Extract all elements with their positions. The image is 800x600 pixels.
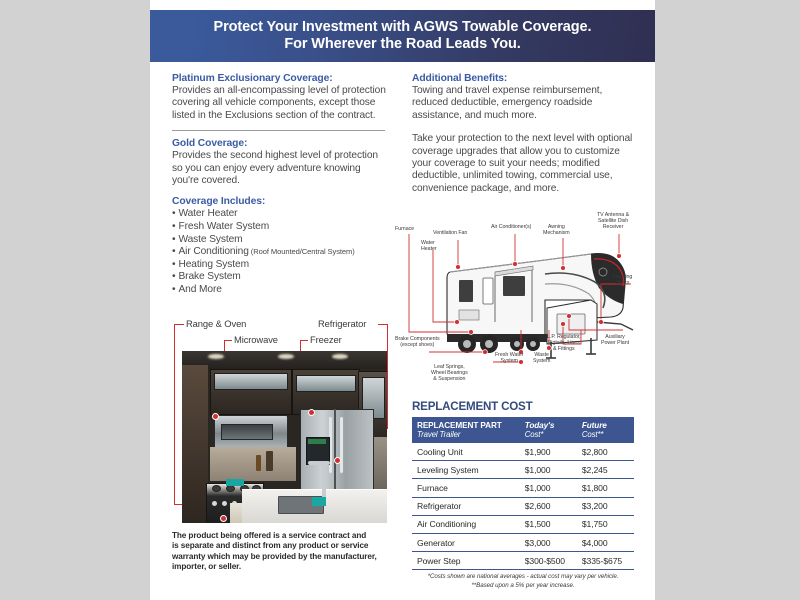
header-title-line2: For Wherever the Road Leads You. — [284, 36, 520, 53]
table-header: REPLACEMENT PART Travel Trailer Today's … — [412, 417, 634, 443]
rv-kitchen-photo — [182, 351, 387, 523]
table-row: Generator$3,000$4,000 — [412, 533, 634, 551]
coverage-item: Waste System — [172, 234, 390, 247]
table-header-row: REPLACEMENT PART Travel Trailer Today's … — [412, 417, 634, 443]
table-cell-part: Cooling Unit — [412, 443, 520, 461]
service-contract-disclaimer: The product being offered is a service c… — [172, 531, 397, 573]
table-row: Furnace$1,000$1,800 — [412, 479, 634, 497]
gold-section: Gold Coverage: Provides the second highe… — [172, 138, 390, 187]
additional-benefits-body-2: Take your protection to the next level w… — [412, 133, 634, 195]
gold-heading: Gold Coverage: — [172, 138, 390, 149]
callout-leaf-springs: Leaf Springs,Wheel Bearings& Suspension — [431, 364, 468, 383]
table-cell-today: $1,500 — [520, 515, 577, 533]
table-cell-future: $335-$675 — [577, 552, 634, 570]
gold-body: Provides the second highest level of pro… — [172, 150, 390, 187]
column-header-today-label: Today's — [525, 421, 555, 430]
brochure-page: Protect Your Investment with AGWS Towabl… — [150, 0, 655, 600]
coverage-list: Water HeaterFresh Water SystemWaste Syst… — [172, 208, 390, 296]
callout-air-conditioners: Air Conditioner(s) — [491, 224, 531, 230]
coverage-item: Heating System — [172, 259, 390, 272]
table-footnote: *Costs shown are national averages - act… — [412, 573, 634, 580]
coverage-item: And More — [172, 284, 390, 297]
replacement-cost-section: REPLACEMENT COST REPLACEMENT PART Travel… — [412, 400, 634, 590]
table-cell-part: Power Step — [412, 552, 520, 570]
table-cell-today: $2,600 — [520, 497, 577, 515]
column-header-today: Today's Cost* — [520, 417, 577, 443]
coverage-item-label: Waste System — [178, 234, 242, 245]
table-cell-part: Leveling System — [412, 461, 520, 479]
callout-furnace: Furnace — [395, 226, 414, 232]
photo-label-microwave: Microwave — [234, 334, 278, 345]
coverage-item-note: (Roof Mounted/Central System) — [249, 247, 355, 256]
coverage-item: Water Heater — [172, 208, 390, 221]
coverage-item: Air Conditioning (Roof Mounted/Central S… — [172, 246, 390, 259]
table-cell-part: Furnace — [412, 479, 520, 497]
table-row: Air Conditioning$1,500$1,750 — [412, 515, 634, 533]
header-title-line1: Protect Your Investment with AGWS Towabl… — [214, 19, 592, 36]
disclaimer-line-3: warranty which may be provided by the ma… — [172, 552, 397, 562]
callout-lp-regulator: L.P. Regulator,Pigtails, Lines& Fittings — [547, 334, 581, 353]
coverage-item-label: Water Heater — [178, 208, 237, 219]
table-row: Leveling System$1,000$2,245 — [412, 461, 634, 479]
additional-benefits-body-1: Towing and travel expense reimbursement,… — [412, 85, 634, 122]
column-header-part-label: REPLACEMENT PART — [417, 421, 502, 430]
table-cell-part: Generator — [412, 533, 520, 551]
additional-benefits-heading: Additional Benefits: — [412, 73, 634, 84]
section-divider — [172, 130, 385, 131]
callout-water-heater: WaterHeater — [421, 240, 437, 252]
callout-fresh-water-system: Fresh WaterSystem — [495, 352, 523, 364]
column-header-future-sub: Cost** — [582, 430, 629, 439]
leader-range-vert — [174, 324, 175, 504]
disclaimer-line-4: importer, or seller. — [172, 562, 397, 572]
photo-hotspot-range-oven — [220, 515, 227, 522]
callout-brake-components: Brake Components(except shoes) — [395, 336, 440, 348]
callout-tv-antenna: TV Antenna &Satellite DishReceiver — [597, 212, 629, 231]
callout-awning-mechanism: AwningMechanism — [543, 224, 570, 236]
callout-ventilation-fan: Ventilation Fan — [433, 230, 467, 236]
coverage-item-label: Heating System — [178, 259, 249, 270]
table-cell-today: $3,000 — [520, 533, 577, 551]
coverage-item-label: And More — [178, 284, 221, 295]
coverage-item-label: Brake System — [178, 271, 240, 282]
photo-hotspot-refrigerator — [334, 457, 341, 464]
callout-leveling-jacks: LevelingJacks — [613, 274, 632, 286]
coverage-item: Brake System — [172, 271, 390, 284]
disclaimer-line-2: is separate and distinct from any produc… — [172, 541, 397, 551]
table-cell-future: $1,800 — [577, 479, 634, 497]
coverage-item: Fresh Water System — [172, 221, 390, 234]
photo-hotspot-microwave — [212, 413, 219, 420]
column-header-future-label: Future — [582, 421, 607, 430]
table-cell-today: $1,000 — [520, 461, 577, 479]
table-cell-future: $3,200 — [577, 497, 634, 515]
header-banner: Protect Your Investment with AGWS Towabl… — [150, 10, 655, 62]
kitchen-photo-block: Range & Oven Microwave Freezer Refrigera… — [172, 318, 392, 523]
table-row: Power Step$300-$500$335-$675 — [412, 552, 634, 570]
table-footnotes: *Costs shown are national averages - act… — [412, 573, 634, 589]
table-cell-today: $1,000 — [520, 479, 577, 497]
column-header-part: REPLACEMENT PART Travel Trailer — [412, 417, 520, 443]
photo-hotspot-freezer — [308, 409, 315, 416]
left-column: Platinum Exclusionary Coverage: Provides… — [172, 73, 390, 297]
rv-diagram: Furnace WaterHeater Ventilation Fan Air … — [395, 212, 645, 392]
leader-micro-top — [224, 340, 232, 341]
leader-range-top — [174, 324, 184, 325]
column-header-today-sub: Cost* — [525, 430, 572, 439]
table-cell-today: $300-$500 — [520, 552, 577, 570]
coverage-heading: Coverage Includes: — [172, 196, 390, 207]
right-column: Additional Benefits: Towing and travel e… — [412, 73, 634, 195]
table-cell-future: $2,245 — [577, 461, 634, 479]
coverage-item-label: Air Conditioning — [178, 246, 248, 257]
disclaimer-line-1: The product being offered is a service c… — [172, 531, 397, 541]
table-cell-part: Air Conditioning — [412, 515, 520, 533]
photo-label-range-oven: Range & Oven — [186, 318, 246, 329]
replacement-cost-title: REPLACEMENT COST — [412, 400, 634, 413]
coverage-item-label: Fresh Water System — [178, 221, 269, 232]
platinum-body: Provides an all-encompassing level of pr… — [172, 85, 390, 122]
platinum-section: Platinum Exclusionary Coverage: Provides… — [172, 73, 390, 122]
leader-freezer-top — [300, 340, 308, 341]
column-header-part-sub: Travel Trailer — [417, 430, 515, 439]
table-cell-future: $4,000 — [577, 533, 634, 551]
leader-fridge-vert — [387, 324, 388, 428]
callout-auxiliary-power-plant: AuxiliaryPower Plant — [601, 334, 629, 346]
table-row: Refrigerator$2,600$3,200 — [412, 497, 634, 515]
replacement-cost-table: REPLACEMENT PART Travel Trailer Today's … — [412, 417, 634, 570]
table-cell-future: $1,750 — [577, 515, 634, 533]
table-body: Cooling Unit$1,900$2,800Leveling System$… — [412, 443, 634, 570]
coverage-section: Coverage Includes: Water HeaterFresh Wat… — [172, 196, 390, 296]
photo-label-refrigerator: Refrigerator — [318, 318, 366, 329]
platinum-heading: Platinum Exclusionary Coverage: — [172, 73, 390, 84]
callout-waste-system: WasteSystem — [533, 352, 550, 364]
table-cell-future: $2,800 — [577, 443, 634, 461]
table-row: Cooling Unit$1,900$2,800 — [412, 443, 634, 461]
column-header-future: Future Cost** — [577, 417, 634, 443]
table-cell-today: $1,900 — [520, 443, 577, 461]
table-cell-part: Refrigerator — [412, 497, 520, 515]
table-footnote: **Based upon a 5% per year increase. — [412, 582, 634, 589]
photo-label-freezer: Freezer — [310, 334, 342, 345]
